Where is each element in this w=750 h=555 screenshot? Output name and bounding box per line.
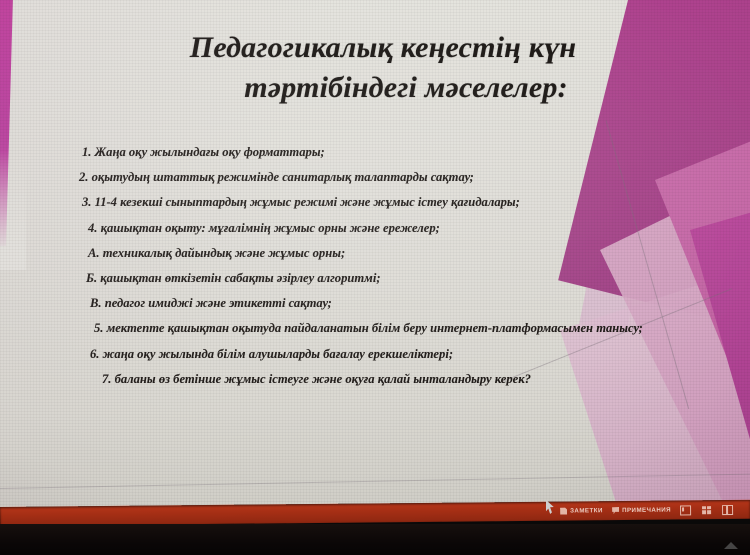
agenda-item-b: Б. қашықтан өткізетін сабақты әзірлеу ал… [86,272,716,285]
normal-view-icon[interactable] [680,505,691,515]
slide-title-line-1: Педагогикалық кеңестің күн [58,28,708,68]
agenda-item-5: 5. мектепте қашықтан оқытуда пайдаланаты… [94,322,716,335]
slide-sorter-icon[interactable] [702,506,711,514]
comments-button[interactable]: ПРИМЕЧАНИЯ [612,507,671,515]
agenda-item-a: А. техникалық дайындық және жұмыс орны; [88,247,716,260]
slide-title-line-2: тәртібіндегі мәселелер: [58,68,708,108]
note-icon [560,508,567,515]
notes-button-label: ЗАМЕТКИ [570,507,603,514]
agenda-item-v: В. педагог имиджі және этикетті сақтау; [90,297,716,310]
reading-view-icon[interactable] [722,504,733,514]
comment-icon [612,507,619,514]
agenda-item-3: 3. 11-4 кезекші сыныптардың жұмыс режимі… [82,196,716,209]
agenda-item-7: 7. баланы өз бетінше жұмыс істеуге және … [102,373,716,386]
notes-button[interactable]: ЗАМЕТКИ [560,507,603,514]
projected-slide: Педагогикалық кеңестің күн тәртібіндегі … [0,0,750,508]
chevron-up-icon[interactable] [724,542,738,549]
view-mode-group [680,504,733,515]
slide-title: Педагогикалық кеңестің күн тәртібіндегі … [58,28,708,107]
decorative-left-edge-fade [0,150,26,270]
agenda-item-2: 2. оқытудың штаттық режимінде санитарлық… [79,171,716,184]
presentation-photo: Педагогикалық кеңестің күн тәртібіндегі … [0,0,750,555]
comments-button-label: ПРИМЕЧАНИЯ [622,507,671,514]
dark-surround [0,524,750,555]
agenda-item-4: 4. қашықтан оқыту: мұғалімнің жұмыс орны… [88,222,716,235]
agenda-item-1: 1. Жаңа оқу жылындағы оқу форматтары; [82,146,716,159]
slide-agenda-list: 1. Жаңа оқу жылындағы оқу форматтары; 2.… [76,146,716,398]
agenda-item-6: 6. жаңа оқу жылында білім алушыларды бағ… [90,348,716,361]
